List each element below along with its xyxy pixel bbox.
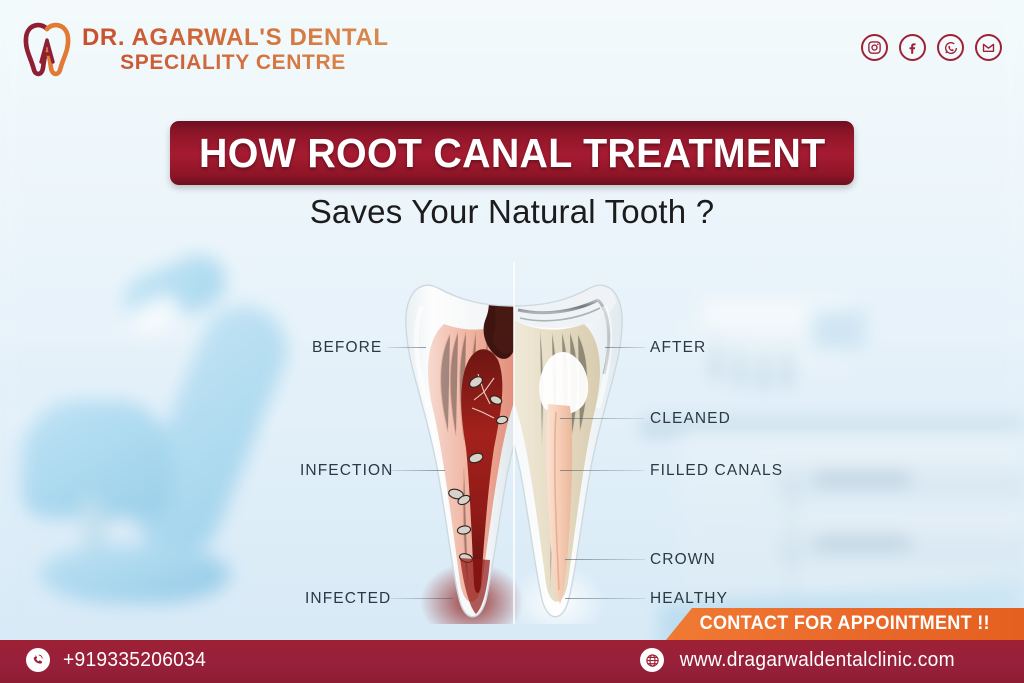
instagram-icon[interactable] [861,34,888,61]
footer-bar: +919335206034 www.dragarwaldentalclinic.… [0,640,1024,683]
facebook-icon[interactable] [899,34,926,61]
cta-text: CONTACT FOR APPOINTMENT !! [700,613,990,635]
website-contact[interactable]: www.dragarwaldentalclinic.com [640,648,961,672]
label-before: BEFORE [312,339,382,357]
globe-icon [640,648,664,672]
phone-number: +919335206034 [63,649,206,672]
brand-logo[interactable]: DR. AGARWAL'S DENTAL SPECIALITY CENTRE [18,20,378,82]
gmail-icon[interactable] [975,34,1002,61]
header: DR. AGARWAL'S DENTAL SPECIALITY CENTRE [0,0,1024,100]
subtitle-text: Saves Your Natural Tooth ? [0,193,1024,231]
label-infection: INFECTION [300,462,393,480]
phone-contact[interactable]: +919335206034 [26,648,209,672]
whatsapp-icon[interactable] [937,34,964,61]
before-after-divider [513,262,515,624]
title-text: HOW ROOT CANAL TREATMENT [199,130,825,177]
label-after: AFTER [650,339,706,357]
website-url: www.dragarwaldentalclinic.com [680,649,955,672]
phone-icon [26,648,50,672]
label-filled-canals: FILLED CANALS [650,462,783,480]
label-healthy: HEALTHY [650,590,728,608]
label-infected: INFECTED [305,590,391,608]
label-crown: CROWN [650,551,716,569]
poster-canvas: DR. AGARWAL'S DENTAL SPECIALITY CENTRE [0,0,1024,683]
appointment-cta-banner[interactable]: CONTACT FOR APPOINTMENT !! [666,608,1024,640]
social-links [861,34,1002,61]
tooth-cross-section-diagram [398,262,630,624]
logo-line-2: SPECIALITY CENTRE [82,51,384,75]
logo-line-1: DR. AGARWAL'S DENTAL [82,25,389,51]
label-cleaned: CLEANED [650,410,731,428]
title-banner: HOW ROOT CANAL TREATMENT [170,121,854,185]
tooth-monogram-icon [18,20,76,78]
